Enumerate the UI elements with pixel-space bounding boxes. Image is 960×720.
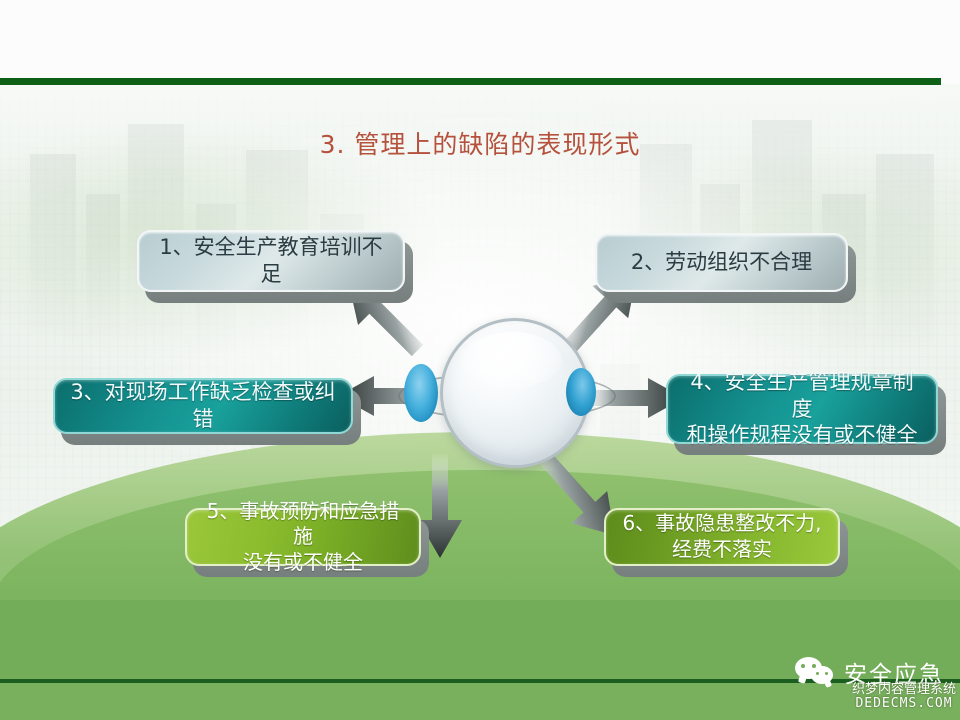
top-divider-rule [0,78,941,85]
callout-box-5[interactable]: 5、事故预防和应急措施 没有或不健全 [185,508,421,566]
callout-label-1: 1、安全生产教育培训不足 [153,234,389,288]
callout-box-2[interactable]: 2、劳动组织不合理 [595,233,848,292]
callout-label-4: 4、安全生产管理规章制度 和操作规程没有或不健全 [682,369,922,450]
callout-label-6: 6、事故隐患整改不力, 经费不落实 [622,511,821,562]
callout-label-5: 5、事故预防和应急措施 没有或不健全 [201,499,405,576]
wechat-icon [795,657,837,687]
box-face-5: 5、事故预防和应急措施 没有或不健全 [185,508,421,566]
callout-label-3: 3、对现场工作缺乏检查或纠错 [69,379,337,433]
sphere-gloss-highlight [462,332,562,388]
callout-box-1[interactable]: 1、安全生产教育培训不足 [137,230,405,292]
watermark: 织梦内容管理系统 DEDECMS.COM [852,683,956,710]
callout-box-6[interactable]: 6、事故隐患整改不力, 经费不落实 [604,508,840,566]
slide-canvas: 3. 管理上的缺陷的表现形式 [0,0,960,720]
callout-box-3[interactable]: 3、对现场工作缺乏检查或纠错 [53,378,353,434]
box-face-4: 4、安全生产管理规章制度 和操作规程没有或不健全 [666,374,938,444]
watermark-line-2: DEDECMS.COM [852,697,956,711]
sphere-accent-right [566,368,596,416]
callout-label-2: 2、劳动组织不合理 [631,249,812,276]
box-face-6: 6、事故隐患整改不力, 经费不落实 [604,508,840,566]
callout-box-4[interactable]: 4、安全生产管理规章制度 和操作规程没有或不健全 [666,374,938,444]
sphere-accent-left [404,364,438,422]
box-face-1: 1、安全生产教育培训不足 [137,230,405,292]
box-face-3: 3、对现场工作缺乏检查或纠错 [53,378,353,434]
box-face-2: 2、劳动组织不合理 [595,233,848,292]
page-title: 3. 管理上的缺陷的表现形式 [0,125,960,161]
watermark-line-1: 织梦内容管理系统 [852,683,956,697]
